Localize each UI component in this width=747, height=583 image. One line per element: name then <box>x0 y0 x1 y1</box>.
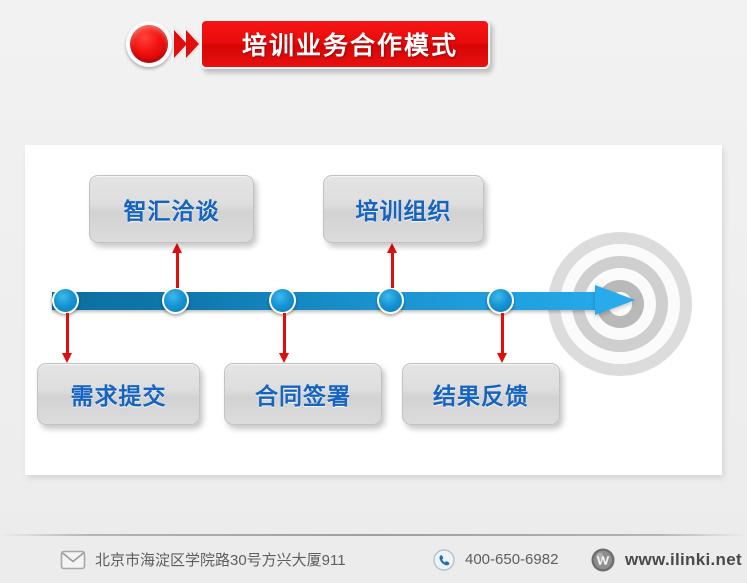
envelope-icon <box>60 549 86 571</box>
step-label: 结果反馈 <box>433 377 529 411</box>
page-title: 培训业务合作模式 <box>242 26 458 62</box>
step-label: 智汇洽谈 <box>124 192 220 226</box>
arrowhead <box>279 353 289 363</box>
step-label: 需求提交 <box>71 377 167 411</box>
right-arrow-icon <box>595 285 635 315</box>
website-text: www.ilinki.net <box>625 550 742 570</box>
arrow-stem <box>283 313 286 354</box>
step-label: 合同签署 <box>255 377 351 411</box>
step-box-peixun-zuzhi[interactable]: 培训组织 <box>323 175 484 243</box>
title-plate: 培训业务合作模式 <box>200 19 490 69</box>
title-banner: 培训业务合作模式 <box>124 18 490 70</box>
connector-arrow-up-2 <box>391 243 394 288</box>
footer-bar: 北京市海淀区学院路30号方兴大厦911 400-650-6982 www.ili… <box>0 536 747 583</box>
footer-phone: 400-650-6982 <box>432 548 558 572</box>
phone-text: 400-650-6982 <box>465 551 558 568</box>
step-box-hetong-qianshu[interactable]: 合同签署 <box>224 363 382 425</box>
process-timeline <box>52 285 637 316</box>
arrow-stem <box>501 313 504 354</box>
connector-arrow-down-1 <box>66 313 69 363</box>
arrow-stem <box>391 252 394 288</box>
timeline-node-1[interactable] <box>52 287 79 314</box>
timeline-node-3[interactable] <box>269 287 296 314</box>
arrow-stem <box>176 252 179 288</box>
timeline-node-5[interactable] <box>487 287 514 314</box>
step-label: 培训组织 <box>356 192 452 226</box>
timeline-bar <box>52 292 597 310</box>
footer-address: 北京市海淀区学院路30号方兴大厦911 <box>60 549 346 571</box>
timeline-node-4[interactable] <box>377 287 404 314</box>
timeline-node-2[interactable] <box>162 287 189 314</box>
globe-icon <box>590 547 616 573</box>
arrow-stem <box>66 313 69 354</box>
connector-arrow-down-3 <box>501 313 504 363</box>
connector-arrow-up-1 <box>176 243 179 288</box>
step-box-xuqiu-tijiao[interactable]: 需求提交 <box>37 363 200 425</box>
connector-arrow-down-2 <box>283 313 286 363</box>
red-circle-icon <box>124 18 176 70</box>
footer-website[interactable]: www.ilinki.net <box>590 547 742 573</box>
address-text: 北京市海淀区学院路30号方兴大厦911 <box>95 549 346 570</box>
step-box-zhihui-qiatan[interactable]: 智汇洽谈 <box>89 175 254 243</box>
slide-canvas: 培训业务合作模式 <box>0 0 747 583</box>
arrowhead <box>497 353 507 363</box>
arrowhead <box>62 353 72 363</box>
step-box-jieguo-fankui[interactable]: 结果反馈 <box>402 363 560 425</box>
telephone-icon <box>432 548 456 572</box>
red-circle-inner <box>130 25 168 63</box>
